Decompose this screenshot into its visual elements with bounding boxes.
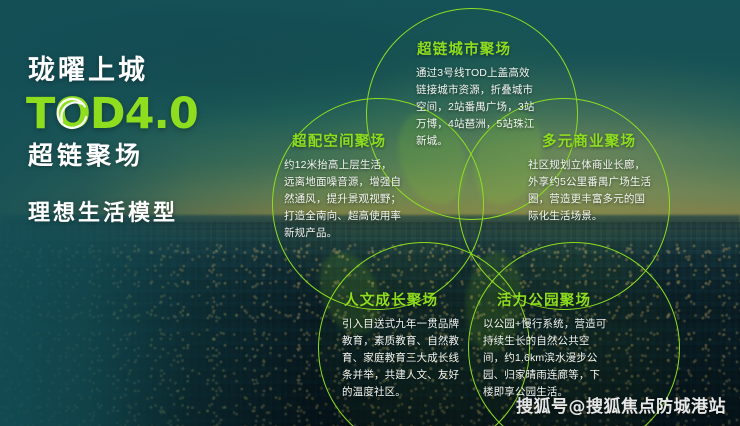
project-subtitle: 超链聚场	[28, 142, 268, 171]
group-space: 超配空间聚场 约12米抬高上层生活，远离地面噪音源，增强自然通风，提升景观视野；…	[284, 130, 408, 242]
group-space-title: 超配空间聚场	[292, 130, 408, 151]
title-block: 珑曜上城 TOD4.0 超链聚场 理想生活模型	[28, 56, 268, 227]
project-name: 珑曜上城	[28, 56, 268, 86]
group-park: 活力公园聚场 以公园+慢行系统，营造可持续生长的自然公共空间，约1.6km滨水漫…	[483, 289, 613, 401]
group-education-title: 人文成长聚场	[344, 289, 458, 310]
tod-logo-text: TOD4.0	[26, 93, 198, 136]
tod-logo: TOD4.0	[26, 93, 268, 137]
group-park-body: 以公园+慢行系统，营造可持续生长的自然公共空间，约1.6km滨水漫步公园、归家晴…	[483, 316, 607, 401]
watermark: 搜狐号@搜狐焦点防城港站	[516, 392, 726, 417]
group-city: 超链城市聚场 通过3号线TOD上盖高效链接城市资源，折叠城市空间，2站番禺广场，…	[404, 38, 540, 150]
project-tagline: 理想生活模型	[28, 200, 268, 226]
group-park-title: 活力公园聚场	[497, 289, 613, 310]
poster-stage: 珑曜上城 TOD4.0 超链聚场 理想生活模型 超链城市聚场 通过3号线TOD上…	[0, 0, 740, 426]
group-commerce: 多元商业聚场 社区规划立体商业长廊，外享约5公里番禺广场生活圈，营造更丰富多元的…	[528, 130, 656, 225]
group-education-body: 引入目送式九年一贯品牌教育，素质教育、自然教育、家庭教育三大成长线条并举，共建人…	[342, 316, 460, 401]
group-space-body: 约12米抬高上层生活，远离地面噪音源，增强自然通风，提升景观视野；打造全南向、超…	[284, 157, 402, 242]
group-commerce-title: 多元商业聚场	[542, 130, 656, 151]
group-education: 人文成长聚场 引入目送式九年一贯品牌教育，素质教育、自然教育、家庭教育三大成长线…	[330, 289, 458, 401]
group-city-body: 通过3号线TOD上盖高效链接城市资源，折叠城市空间，2站番禺广场，3站万博，4站…	[416, 65, 540, 150]
group-city-title: 超链城市聚场	[417, 38, 540, 59]
group-commerce-body: 社区规划立体商业长廊，外享约5公里番禺广场生活圈，营造更丰富多元的国际化生活场景…	[528, 157, 652, 225]
